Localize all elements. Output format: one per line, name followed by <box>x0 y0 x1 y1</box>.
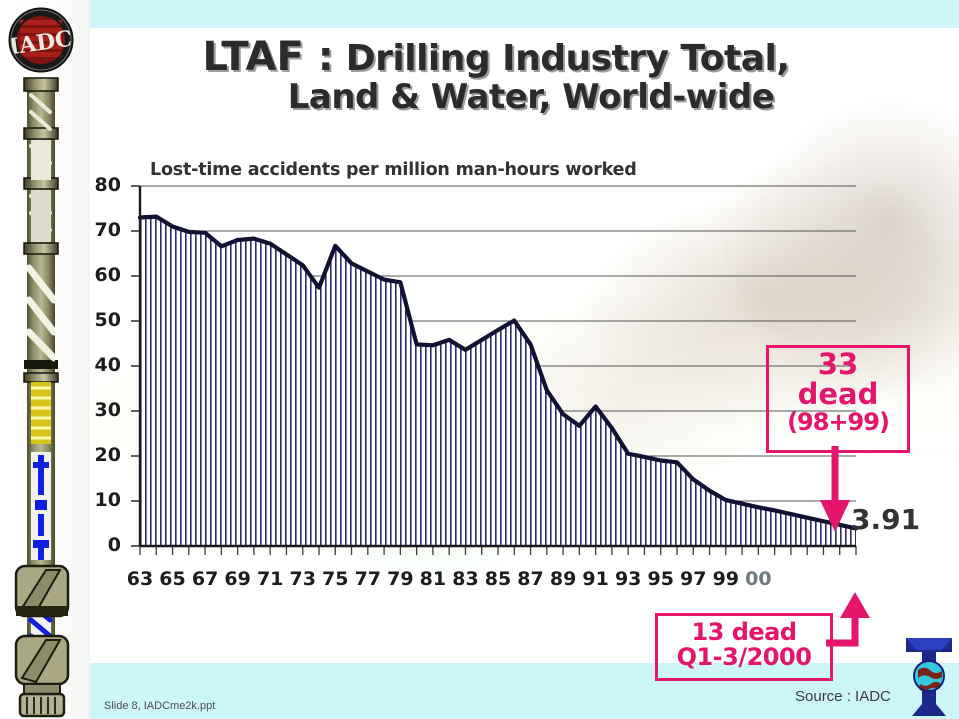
callout-33-years: (98+99) <box>769 410 907 435</box>
chart-area-fill <box>140 217 856 546</box>
x-tick-label: 93 <box>613 568 643 590</box>
x-tick-label: 79 <box>385 568 415 590</box>
y-tick-label: 50 <box>75 309 121 331</box>
x-tick-label: 97 <box>678 568 708 590</box>
y-tick-label: 30 <box>75 399 121 421</box>
slide-note: Slide 8, IADCme2k.ppt <box>104 700 215 712</box>
callout-33-count: 33 <box>769 350 907 380</box>
y-tick-label: 10 <box>75 489 121 511</box>
x-tick-label: 99 <box>711 568 741 590</box>
final-value-label: 3.91 <box>851 503 920 536</box>
source-label: Source : IADC <box>795 688 891 705</box>
x-tick-label: 63 <box>125 568 155 590</box>
x-tick-label: 69 <box>223 568 253 590</box>
x-tick-label: 00 <box>743 568 773 590</box>
y-tick-label: 80 <box>75 174 121 196</box>
y-tick-label: 0 <box>75 534 121 556</box>
x-tick-label: 89 <box>548 568 578 590</box>
y-tick-label: 60 <box>75 264 121 286</box>
t-globe-logo <box>900 628 958 718</box>
x-tick-label: 91 <box>581 568 611 590</box>
y-tick-label: 40 <box>75 354 121 376</box>
x-tick-label: 71 <box>255 568 285 590</box>
callout-33-word: dead <box>769 380 907 410</box>
chart-x-ticks <box>140 546 856 555</box>
x-tick-label: 95 <box>646 568 676 590</box>
callout-13-count: 13 dead <box>658 620 830 645</box>
callout-13-period: Q1-3/2000 <box>658 645 830 670</box>
chart-y-ticks <box>131 186 140 546</box>
x-tick-label: 85 <box>483 568 513 590</box>
callout-33-dead: 33 dead (98+99) <box>766 345 910 453</box>
callout-33-arrow <box>820 446 850 532</box>
callout-13-dead: 13 dead Q1-3/2000 <box>655 613 833 681</box>
x-tick-label: 87 <box>516 568 546 590</box>
x-tick-label: 83 <box>450 568 480 590</box>
x-tick-label: 81 <box>418 568 448 590</box>
x-tick-label: 65 <box>158 568 188 590</box>
x-tick-label: 77 <box>353 568 383 590</box>
x-tick-label: 67 <box>190 568 220 590</box>
x-tick-label: 75 <box>320 568 350 590</box>
x-tick-label: 73 <box>288 568 318 590</box>
slide-canvas: IADC <box>0 0 959 719</box>
y-tick-label: 70 <box>75 219 121 241</box>
y-tick-label: 20 <box>75 444 121 466</box>
